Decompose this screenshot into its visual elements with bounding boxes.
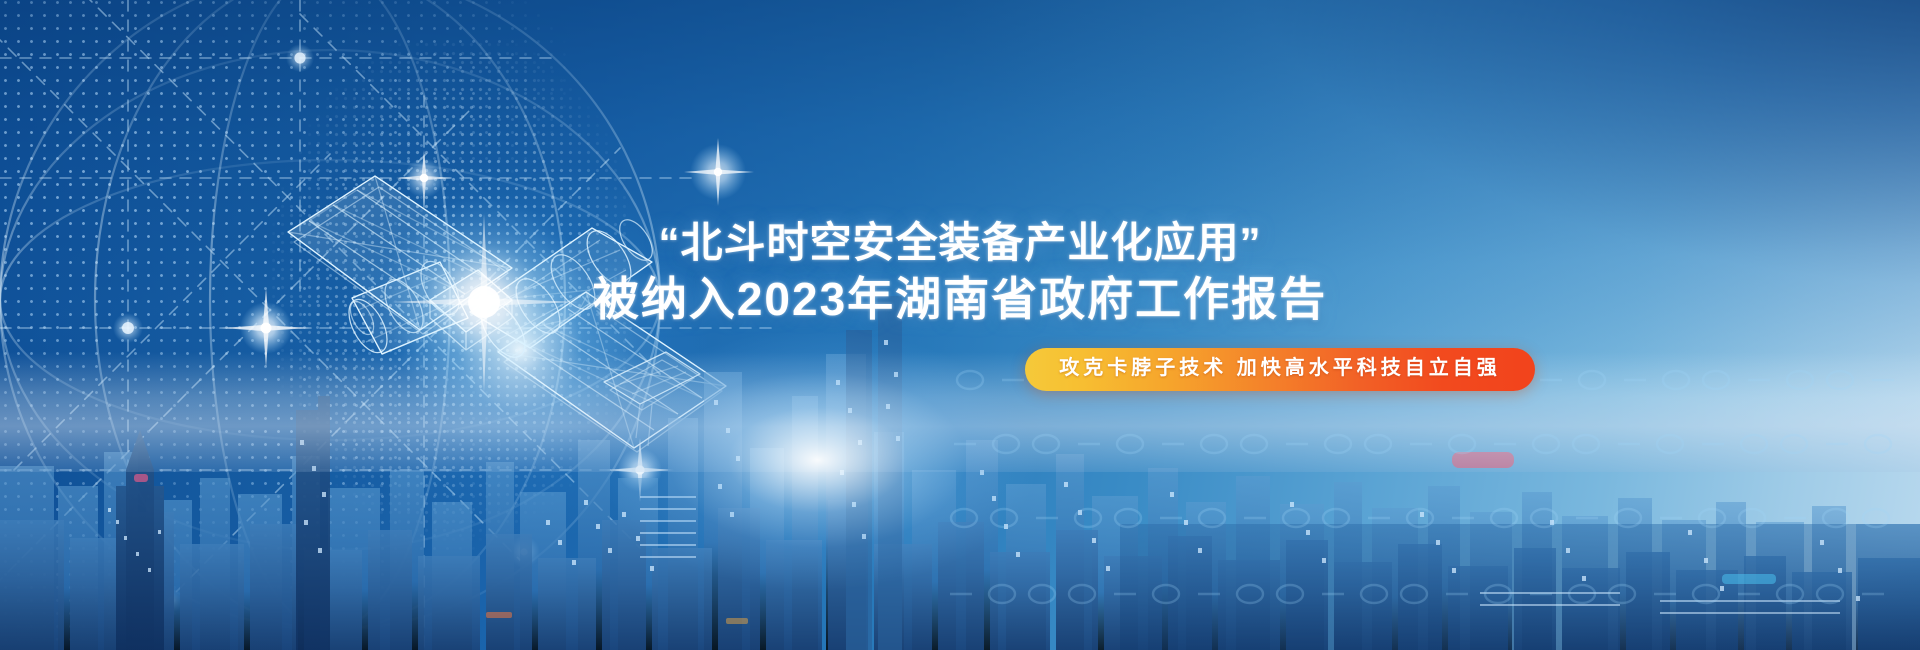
banner-hero: “北斗时空安全装备产业化应用” 被纳入2023年湖南省政府工作报告 攻克卡脖子技… <box>0 0 1920 650</box>
city-skyline-icon <box>0 0 1920 650</box>
